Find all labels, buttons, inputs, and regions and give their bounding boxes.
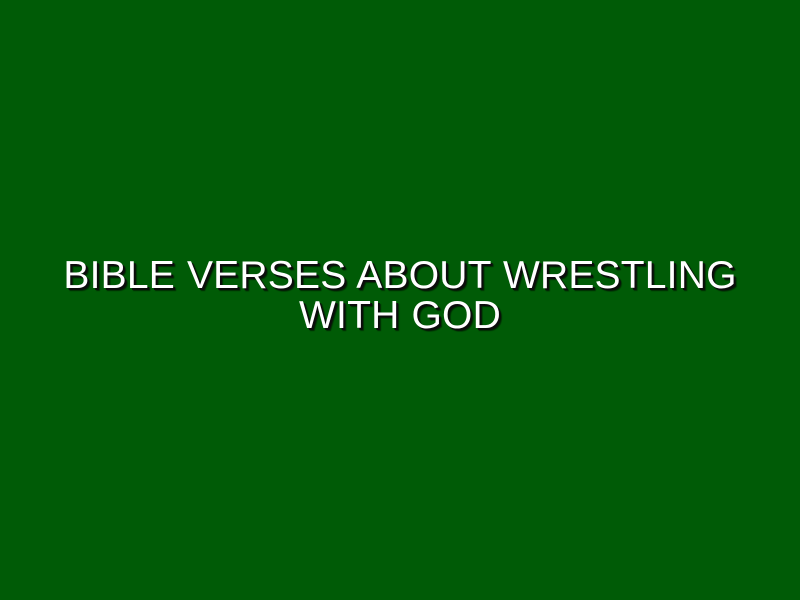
page-title: BIBLE VERSES ABOUT WRESTLING WITH GOD bbox=[55, 256, 745, 336]
poster-canvas: BIBLE VERSES ABOUT WRESTLING WITH GOD bbox=[0, 0, 800, 600]
title-block: BIBLE VERSES ABOUT WRESTLING WITH GOD bbox=[55, 256, 745, 336]
